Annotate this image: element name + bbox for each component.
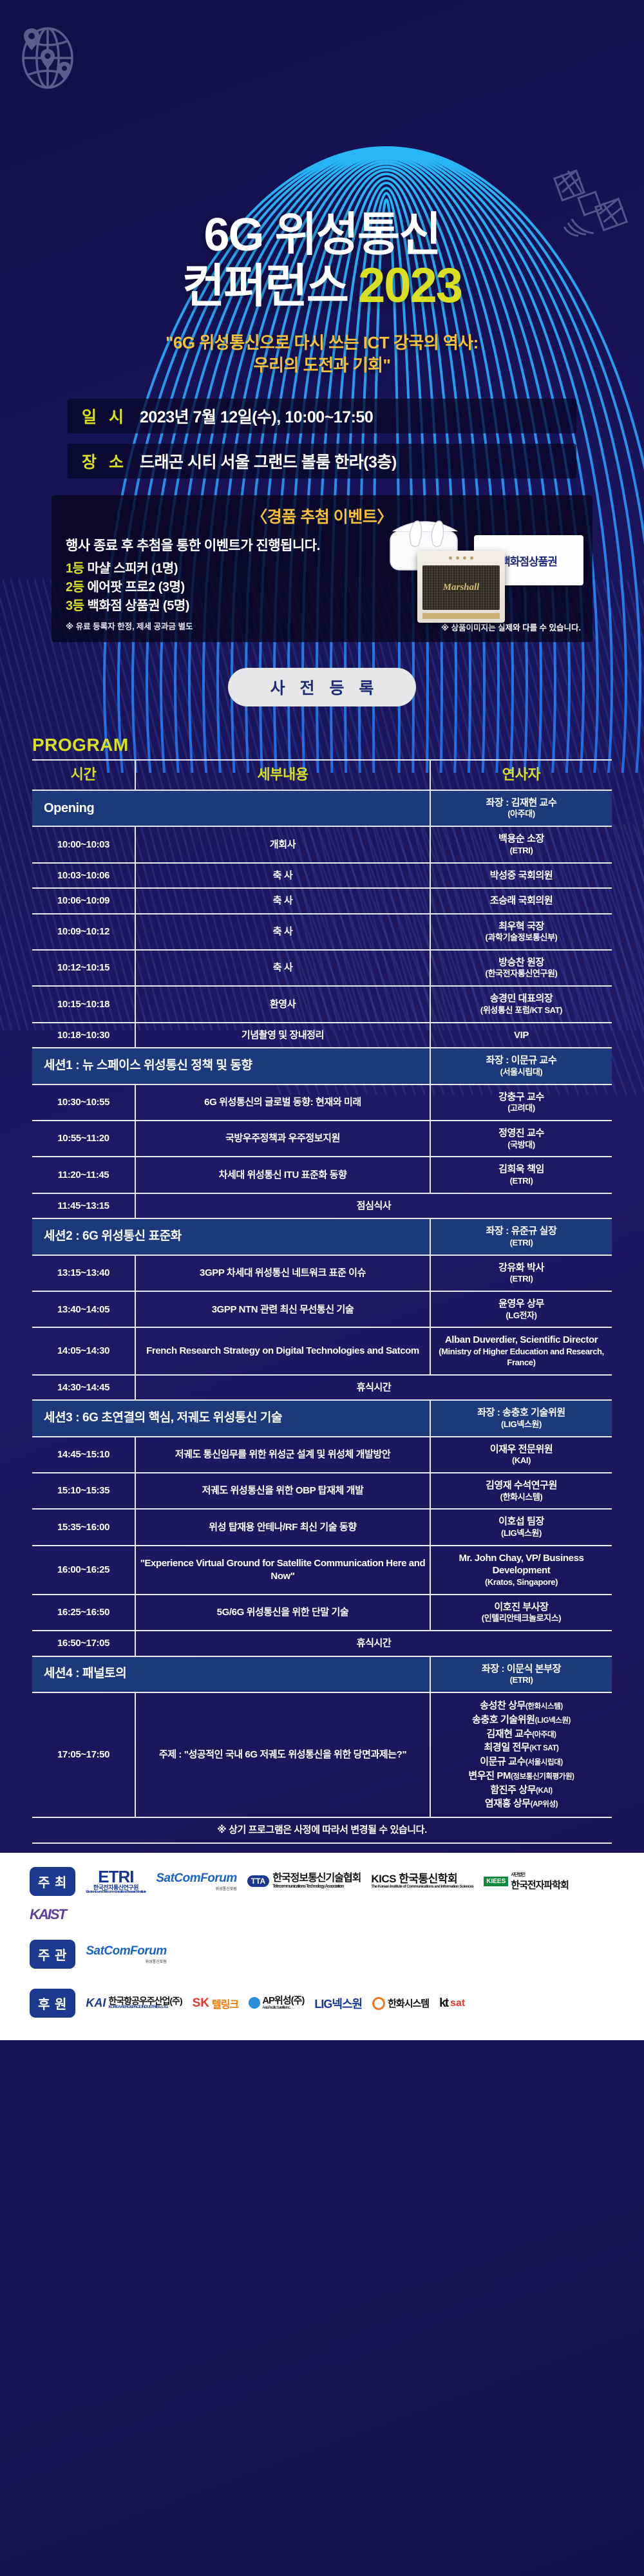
table-row: 16:00~16:25"Experience Virtual Ground fo…: [32, 1546, 612, 1595]
table-row: 16:50~17:05휴식시간: [32, 1631, 612, 1656]
cell-time: 14:45~15:10: [32, 1437, 135, 1473]
cell-time: 15:35~16:00: [32, 1509, 135, 1545]
table-row: 10:00~10:03개회사백용순 소장(ETRI): [32, 826, 612, 862]
cell-detail: 축 사: [135, 863, 430, 889]
panelist-name: 최경일 전무: [484, 1742, 530, 1753]
event-date-row: 일 시 2023년 7월 12일(수), 10:00~17:50: [68, 399, 576, 433]
cell-detail: 3GPP NTN 관련 최신 무선통신 기술: [135, 1291, 430, 1327]
panelist-name: 이문규 교수: [480, 1756, 526, 1767]
logo-ktsat-main: kt: [439, 1996, 448, 2011]
cell-session-title: Opening: [32, 790, 430, 826]
panelist: 최경일 전무(KT SAT): [435, 1741, 608, 1755]
panelist-org: (KAI): [536, 1787, 552, 1795]
cell-time: 14:05~14:30: [32, 1327, 135, 1374]
event-place-value: 드래곤 시티 서울 그랜드 볼룸 한라(3층): [140, 450, 397, 473]
panelist: 송충호 기술위원(LIG넥스원): [435, 1713, 608, 1727]
column-header-detail: 세부내용: [135, 760, 430, 790]
cell-detail: 저궤도 통신임무를 위한 위성군 설계 및 위성체 개발방안: [135, 1437, 430, 1473]
speaker-name: Mr. John Chay, VP/ Business Development: [435, 1552, 608, 1577]
table-row: 13:40~14:053GPP NTN 관련 최신 무선통신 기술윤영우 상무(…: [32, 1291, 612, 1327]
speaker-name: 좌장 : 송충호 기술위원: [435, 1406, 608, 1419]
cell-detail: 점심식사: [135, 1193, 612, 1219]
logo-apsat: AP위성(주) Asia Pacific Satellite Inc.: [249, 1996, 304, 2010]
panelist-org: (정보통신기획평가원): [511, 1773, 574, 1781]
speaker-name: 김영재 수석연구원: [435, 1479, 608, 1492]
marshall-speaker-image: Marshall: [417, 551, 505, 623]
cell-speaker: 정영진 교수(국방대): [430, 1121, 612, 1157]
logo-satcomforum-main: SatComForum: [156, 1871, 236, 1885]
event-place-row: 장 소 드래곤 시티 서울 그랜드 볼룸 한라(3층): [68, 444, 576, 478]
cell-speaker: Mr. John Chay, VP/ Business Development(…: [430, 1546, 612, 1595]
cell-detail: 축 사: [135, 950, 430, 986]
table-row: 10:09~10:12축 사최우혁 국장(과학기술정보통신부): [32, 914, 612, 950]
cell-session-title: 세션4 : 패널토의: [32, 1656, 430, 1692]
cell-detail: 주제 : "성공적인 국내 6G 저궤도 위성통신을 위한 당면과제는?": [135, 1692, 430, 1817]
program-footnote-row: ※ 상기 프로그램은 사정에 따라서 변경될 수 있습니다.: [32, 1817, 612, 1843]
prize-name: 에어팟 프로2 (3명): [88, 580, 185, 594]
cell-time: 11:45~13:15: [32, 1193, 135, 1219]
logo-hanwha-mark: [372, 1997, 385, 2010]
panelist-name: 김재현 교수: [486, 1728, 532, 1739]
logo-etri-main: ETRI: [98, 1867, 133, 1886]
speaker-name: 좌장 : 이문식 본부장: [435, 1663, 608, 1676]
speaker-org: (서울시립대): [435, 1067, 608, 1078]
cell-speaker: 좌장 : 유준규 실장(ETRI): [430, 1218, 612, 1255]
speaker-name: 강유화 박사: [435, 1262, 608, 1274]
cell-detail: 저궤도 위성통신을 위한 OBP 탑재체 개발: [135, 1473, 430, 1509]
logo-kics-sub: The Korean Institute of Communications a…: [371, 1885, 473, 1889]
logo-kaist: KAIST: [30, 1906, 66, 1923]
speaker-org: (위성통신 포럼/KT SAT): [435, 1005, 608, 1016]
cell-time: 10:06~10:09: [32, 888, 135, 914]
pre-register-button[interactable]: 사 전 등 록: [228, 668, 417, 706]
poster-subtitle: "6G 위성통신으로 다시 쓰는 ICT 강국의 역사: 우리의 도전과 기회": [45, 332, 599, 377]
table-row: 15:10~15:35저궤도 위성통신을 위한 OBP 탑재체 개발김영재 수석…: [32, 1473, 612, 1509]
speaker-knobs: [422, 556, 500, 562]
speaker-name: 좌장 : 이문규 교수: [435, 1054, 608, 1067]
table-row: 10:12~10:15축 사방승찬 원장(한국전자통신연구원): [32, 950, 612, 986]
cell-time: 10:15~10:18: [32, 986, 135, 1022]
cell-detail: 축 사: [135, 888, 430, 914]
speaker-name: 조승래 국회의원: [435, 895, 608, 907]
logo-apsat-sub: Asia Pacific Satellite Inc.: [262, 2006, 304, 2010]
cell-time: 15:10~15:35: [32, 1473, 135, 1509]
logo-sk-mark: SK: [193, 1996, 209, 2011]
panelist-org: (한화시스템): [526, 1703, 563, 1710]
cell-detail: "Experience Virtual Ground for Satellite…: [135, 1546, 430, 1595]
logo-kai-sub: KOREA AEROSPACE INDUSTRIES, LTD.: [108, 2005, 182, 2010]
event-date-label: 일 시: [82, 404, 129, 428]
logo-apsat-mark: [249, 1997, 260, 2009]
event-place-label: 장 소: [82, 450, 129, 473]
panelist: 함진주 상무(KAI): [435, 1783, 608, 1797]
cell-panelists: 송성찬 상무(한화시스템)송충호 기술위원(LIG넥스원)김재현 교수(아주대)…: [430, 1692, 612, 1817]
table-row: 14:30~14:45휴식시간: [32, 1375, 612, 1401]
logo-tta-mark: TTA: [247, 1875, 269, 1887]
logo-ktsat-sub: sat: [450, 1998, 465, 2009]
logo-kai: KAI 한국항공우주산업(주) KOREA AEROSPACE INDUSTRI…: [86, 1996, 182, 2011]
logo-sk-telink: SK 텔링크: [193, 1996, 239, 2011]
speaker-name: VIP: [435, 1029, 608, 1042]
event-date-value: 2023년 7월 12일(수), 10:00~17:50: [140, 404, 373, 428]
logo-satcomforum-sub: 위성통신포럼: [156, 1886, 236, 1891]
cell-time: 16:00~16:25: [32, 1546, 135, 1595]
cell-speaker: 윤영우 상무(LG전자): [430, 1291, 612, 1327]
panelist-name: 염재흥 상무: [485, 1798, 531, 1809]
cell-detail: 기념촬영 및 장내정리: [135, 1023, 430, 1048]
table-header-row: 시간 세부내용 연사자: [32, 760, 612, 790]
speaker-org: (인텔리안테크놀로지스): [435, 1613, 608, 1624]
speaker-name: 이호진 부사장: [435, 1601, 608, 1614]
cell-time: 14:30~14:45: [32, 1375, 135, 1401]
speaker-org: (한국전자통신연구원): [435, 969, 608, 980]
cell-time: 10:03~10:06: [32, 863, 135, 889]
speaker-org: (LG전자): [435, 1311, 608, 1321]
speaker-name: 강충구 교수: [435, 1091, 608, 1104]
cell-detail: 개회사: [135, 826, 430, 862]
logo-hanwha-main: 한화시스템: [388, 1996, 429, 2010]
program-table-body: Opening좌장 : 김재현 교수(아주대)10:00~10:03개회사백용순…: [32, 790, 612, 1817]
prize-images: 백화점상품권 Marshall: [381, 506, 587, 628]
cell-speaker: Alban Duverdier, Scientific Director(Min…: [430, 1327, 612, 1374]
cell-speaker: 조승래 국회의원: [430, 888, 612, 914]
speaker-name: 방승찬 원장: [435, 956, 608, 969]
speaker-org: (ETRI): [435, 846, 608, 857]
program-footnote: ※ 상기 프로그램은 사정에 따라서 변경될 수 있습니다.: [32, 1817, 612, 1843]
cell-speaker: 강충구 교수(고려대): [430, 1084, 612, 1121]
title-line-1: 6G 위성통신: [0, 213, 644, 258]
logo-tta-sub: Telecommunications Technology Associatio…: [272, 1884, 361, 1889]
cell-speaker: 최우혁 국장(과학기술정보통신부): [430, 914, 612, 950]
cell-detail: 6G 위성통신의 글로벌 동향: 현재와 미래: [135, 1084, 430, 1121]
cell-speaker: 방승찬 원장(한국전자통신연구원): [430, 950, 612, 986]
logo-satcomforum-host: SatComForum 위성통신포럼: [156, 1871, 236, 1891]
cell-time: 16:50~17:05: [32, 1631, 135, 1656]
speaker-org: (ETRI): [435, 1176, 608, 1187]
table-row: 15:35~16:00위성 탑재용 안테나/RF 최신 기술 동향이호섭 팀장(…: [32, 1509, 612, 1545]
cell-speaker: 송경민 대표의장(위성통신 포럼/KT SAT): [430, 986, 612, 1022]
logo-etri: ETRI 한국전자통신연구원 Electronics and Telecommu…: [86, 1868, 146, 1895]
speaker-name: 박성중 국회의원: [435, 869, 608, 882]
panelist: 변우진 PM(정보통신기획평가원): [435, 1769, 608, 1783]
speaker-org: (아주대): [435, 809, 608, 820]
subtitle-line-2: 우리의 도전과 기회": [45, 354, 599, 377]
speaker-name: 정영진 교수: [435, 1127, 608, 1140]
panelist-name: 변우진 PM: [468, 1770, 511, 1781]
cell-speaker: 이호섭 팀장(LIG넥스원): [430, 1509, 612, 1545]
logo-satcomforum-org-main: SatComForum: [86, 1944, 166, 1958]
cell-time: 10:12~10:15: [32, 950, 135, 986]
table-row: Opening좌장 : 김재현 교수(아주대): [32, 790, 612, 826]
logo-kiees: KIEES 사단법인 한국전자파학회: [484, 1871, 569, 1891]
cell-detail: 3GPP 차세대 위성통신 네트워크 표준 이슈: [135, 1255, 430, 1291]
cell-speaker: 강유화 박사(ETRI): [430, 1255, 612, 1291]
speaker-org: (고려대): [435, 1103, 608, 1114]
speaker-org: (Kratos, Singapore): [435, 1577, 608, 1588]
logo-lignex1-main: LIG넥스원: [314, 1995, 362, 2012]
speaker-name: 좌장 : 김재현 교수: [435, 797, 608, 810]
logo-ktsat: kt sat: [439, 1996, 465, 2011]
cell-detail: 국방우주정책과 우주정보지원: [135, 1121, 430, 1157]
event-info: 일 시 2023년 7월 12일(수), 10:00~17:50 장 소 드래곤…: [0, 399, 644, 478]
panelist-org: (아주대): [532, 1731, 556, 1739]
panelist-org: (서울시립대): [526, 1759, 563, 1766]
table-row: 11:20~11:45차세대 위성통신 ITU 표준화 동향김희욱 책임(ETR…: [32, 1157, 612, 1193]
speaker-org: (국방대): [435, 1140, 608, 1151]
cell-time: 16:25~16:50: [32, 1595, 135, 1631]
speaker-name: 윤영우 상무: [435, 1298, 608, 1311]
table-row: 세션4 : 패널토의좌장 : 이문식 본부장(ETRI): [32, 1656, 612, 1692]
logo-kics-main: KICS 한국통신학회: [371, 1873, 457, 1885]
cell-time: 13:15~13:40: [32, 1255, 135, 1291]
cell-time: 10:18~10:30: [32, 1023, 135, 1048]
prize-rank: 3등: [66, 599, 84, 613]
logo-kiees-pre: 사단법인: [511, 1871, 569, 1878]
table-row: 14:05~14:30French Research Strategy on D…: [32, 1327, 612, 1374]
cell-speaker: 좌장 : 이문식 본부장(ETRI): [430, 1656, 612, 1692]
logo-kiees-badge: KIEES: [484, 1877, 508, 1886]
logo-kaist-main: KAIST: [30, 1906, 66, 1923]
table-row: 10:55~11:20국방우주정책과 우주정보지원정영진 교수(국방대): [32, 1121, 612, 1157]
cell-session-title: 세션3 : 6G 초연결의 핵심, 저궤도 위성통신 기술: [32, 1400, 430, 1436]
table-row: 10:18~10:30기념촬영 및 장내정리VIP: [32, 1023, 612, 1048]
logo-hanwha-systems: 한화시스템: [372, 1996, 429, 2010]
panelist-name: 송성찬 상무: [480, 1700, 526, 1711]
table-row: 10:06~10:09축 사조승래 국회의원: [32, 888, 612, 914]
cell-speaker: 좌장 : 이문규 교수(서울시립대): [430, 1048, 612, 1084]
cell-detail: 휴식시간: [135, 1375, 612, 1401]
speaker-org: (LIG넥스원): [435, 1419, 608, 1430]
cell-detail: 휴식시간: [135, 1631, 612, 1656]
panelist: 송성찬 상무(한화시스템): [435, 1699, 608, 1713]
cell-speaker: 김영재 수석연구원(한화시스템): [430, 1473, 612, 1509]
cell-speaker: 김희욱 책임(ETRI): [430, 1157, 612, 1193]
cell-speaker: 박성중 국회의원: [430, 863, 612, 889]
program-table: 시간 세부내용 연사자 Opening좌장 : 김재현 교수(아주대)10:00…: [32, 759, 612, 1843]
logo-satcomforum-org-sub: 위성통신포럼: [86, 1958, 166, 1964]
cell-session-title: 세션2 : 6G 위성통신 표준화: [32, 1218, 430, 1255]
cell-time: 10:55~11:20: [32, 1121, 135, 1157]
logo-tta: TTA 한국정보통신기술협회 Telecommunications Techno…: [247, 1873, 361, 1889]
speaker-org: (Ministry of Higher Education and Resear…: [435, 1347, 608, 1368]
cell-time: 10:09~10:12: [32, 914, 135, 950]
table-row: 17:05~17:50주제 : "성공적인 국내 6G 저궤도 위성통신을 위한…: [32, 1692, 612, 1817]
cell-time: 11:20~11:45: [32, 1157, 135, 1193]
register-area: 사 전 등 록: [0, 668, 644, 706]
sponsor-row-organizer: 주 관 SatComForum 위성통신포럼: [30, 1937, 614, 1972]
prize-rank: 1등: [66, 562, 84, 576]
gift-certificate-text: 백화점상품권: [500, 553, 557, 569]
speaker-name: 백용순 소장: [435, 833, 608, 846]
cell-time: 10:00~10:03: [32, 826, 135, 862]
prize-name: 백화점 상품권 (5명): [88, 599, 189, 613]
cell-speaker: VIP: [430, 1023, 612, 1048]
table-row: 10:15~10:18환영사송경민 대표의장(위성통신 포럼/KT SAT): [32, 986, 612, 1022]
title-line-2: 컨퍼런스2023: [0, 262, 644, 310]
speaker-brand-label: Marshall: [443, 582, 480, 593]
cell-speaker: 백용순 소장(ETRI): [430, 826, 612, 862]
table-row: 세션1 : 뉴 스페이스 위성통신 정책 및 동향좌장 : 이문규 교수(서울시…: [32, 1048, 612, 1084]
cell-speaker: 좌장 : 김재현 교수(아주대): [430, 790, 612, 826]
panelist-org: (LIG넥스원): [535, 1717, 571, 1725]
speaker-org: (ETRI): [435, 1274, 608, 1285]
logo-tta-main: 한국정보통신기술협회: [272, 1873, 361, 1884]
speaker-base: [422, 613, 500, 619]
cell-detail: 5G/6G 위성통신을 위한 단말 기술: [135, 1595, 430, 1631]
sponsor-tag-supporter: 후 원: [30, 1989, 75, 2018]
logo-satcomforum-organizer: SatComForum 위성통신포럼: [86, 1944, 166, 1964]
table-row: 16:25~16:505G/6G 위성통신을 위한 단말 기술이호진 부사장(인…: [32, 1595, 612, 1631]
speaker-name: Alban Duverdier, Scientific Director: [435, 1334, 608, 1347]
cell-time: 17:05~17:50: [32, 1692, 135, 1817]
logo-lignex1: LIG넥스원: [314, 1995, 362, 2012]
column-header-speaker: 연사자: [430, 760, 612, 790]
title-line-2-text: 컨퍼런스: [182, 261, 348, 312]
panelist: 염재흥 상무(AP위성): [435, 1797, 608, 1811]
table-row: 10:03~10:06축 사박성중 국회의원: [32, 863, 612, 889]
speaker-name: 이호섭 팀장: [435, 1515, 608, 1528]
program-section: PROGRAM 시간 세부내용 연사자 Opening좌장 : 김재현 교수(아…: [32, 735, 612, 1843]
sponsor-row-host: 주 최 ETRI 한국전자통신연구원 Electronics and Telec…: [30, 1867, 614, 1923]
speaker-name: 이재우 전문위원: [435, 1443, 608, 1456]
cell-time: 13:40~14:05: [32, 1291, 135, 1327]
speaker-org: (한화시스템): [435, 1492, 608, 1503]
speaker-grille: Marshall: [422, 565, 500, 610]
subtitle-line-1: "6G 위성통신으로 다시 쓰는 ICT 강국의 역사:: [45, 332, 599, 354]
cell-detail: French Research Strategy on Digital Tech…: [135, 1327, 430, 1374]
panelist-org: (AP위성): [531, 1801, 558, 1808]
poster-title: 6G 위성통신 컨퍼런스2023: [0, 0, 644, 310]
logo-sk-main: 텔링크: [212, 1996, 238, 2011]
prize-rank: 2등: [66, 580, 84, 594]
cell-speaker: 좌장 : 송충호 기술위원(LIG넥스원): [430, 1400, 612, 1436]
logo-kai-mark: KAI: [86, 1996, 106, 2010]
sponsors-footer: 주 최 ETRI 한국전자통신연구원 Electronics and Telec…: [0, 1853, 644, 2040]
table-row: 세션2 : 6G 위성통신 표준화좌장 : 유준규 실장(ETRI): [32, 1218, 612, 1255]
table-row: 세션3 : 6G 초연결의 핵심, 저궤도 위성통신 기술좌장 : 송충호 기술…: [32, 1400, 612, 1436]
title-year: 2023: [358, 258, 462, 313]
logo-kiees-main: 한국전자파학회: [511, 1880, 569, 1891]
table-row: 14:45~15:10저궤도 통신임무를 위한 위성군 설계 및 위성체 개발방…: [32, 1437, 612, 1473]
speaker-org: (과학기술정보통신부): [435, 933, 608, 943]
cell-speaker: 이재우 전문위원(KAI): [430, 1437, 612, 1473]
panelist-org: (KT SAT): [529, 1745, 558, 1752]
cell-speaker: 이호진 부사장(인텔리안테크놀로지스): [430, 1595, 612, 1631]
sponsor-tag-host: 주 최: [30, 1867, 75, 1896]
speaker-org: (ETRI): [435, 1675, 608, 1686]
panelist-name: 함진주 상무: [490, 1785, 536, 1795]
prize-name: 마샬 스피커 (1명): [88, 562, 178, 576]
table-row: 10:30~10:556G 위성통신의 글로벌 동향: 현재와 미래강충구 교수…: [32, 1084, 612, 1121]
speaker-org: (LIG넥스원): [435, 1528, 608, 1539]
cell-detail: 축 사: [135, 914, 430, 950]
speaker-org: (KAI): [435, 1455, 608, 1466]
cell-detail: 환영사: [135, 986, 430, 1022]
cell-time: 10:30~10:55: [32, 1084, 135, 1121]
table-row: 13:15~13:403GPP 차세대 위성통신 네트워크 표준 이슈강유화 박…: [32, 1255, 612, 1291]
cell-detail: 차세대 위성통신 ITU 표준화 동향: [135, 1157, 430, 1193]
column-header-time: 시간: [32, 760, 135, 790]
speaker-name: 송경민 대표의장: [435, 992, 608, 1005]
speaker-name: 김희욱 책임: [435, 1163, 608, 1176]
cell-session-title: 세션1 : 뉴 스페이스 위성통신 정책 및 동향: [32, 1048, 430, 1084]
speaker-org: (ETRI): [435, 1238, 608, 1249]
logo-apsat-main: AP위성(주): [262, 1995, 304, 2006]
panelist: 김재현 교수(아주대): [435, 1727, 608, 1741]
program-heading: PROGRAM: [32, 735, 612, 755]
panelist-name: 송충호 기술위원: [472, 1714, 535, 1725]
sponsor-row-supporter: 후 원 KAI 한국항공우주산업(주) KOREA AEROSPACE INDU…: [30, 1986, 614, 2021]
speaker-name: 최우혁 국장: [435, 920, 608, 933]
table-row: 11:45~13:15점심식사: [32, 1193, 612, 1219]
prize-event-box: 〈경품 추첨 이벤트〉 행사 종료 후 추첨을 통한 이벤트가 진행됩니다. 1…: [52, 495, 592, 642]
speaker-name: 좌장 : 유준규 실장: [435, 1225, 608, 1238]
panelist: 이문규 교수(서울시립대): [435, 1755, 608, 1769]
cell-detail: 위성 탑재용 안테나/RF 최신 기술 동향: [135, 1509, 430, 1545]
conference-poster: 6G 위성통신 컨퍼런스2023 "6G 위성통신으로 다시 쓰는 ICT 강국…: [0, 0, 644, 2576]
logo-etri-sub2: Electronics and Telecommunications Resea…: [86, 1891, 146, 1895]
sponsor-tag-organizer: 주 관: [30, 1940, 75, 1969]
logo-kics: KICS 한국통신학회 The Korean Institute of Comm…: [371, 1873, 473, 1889]
logo-kai-main: 한국항공우주산업(주): [108, 1996, 182, 2006]
